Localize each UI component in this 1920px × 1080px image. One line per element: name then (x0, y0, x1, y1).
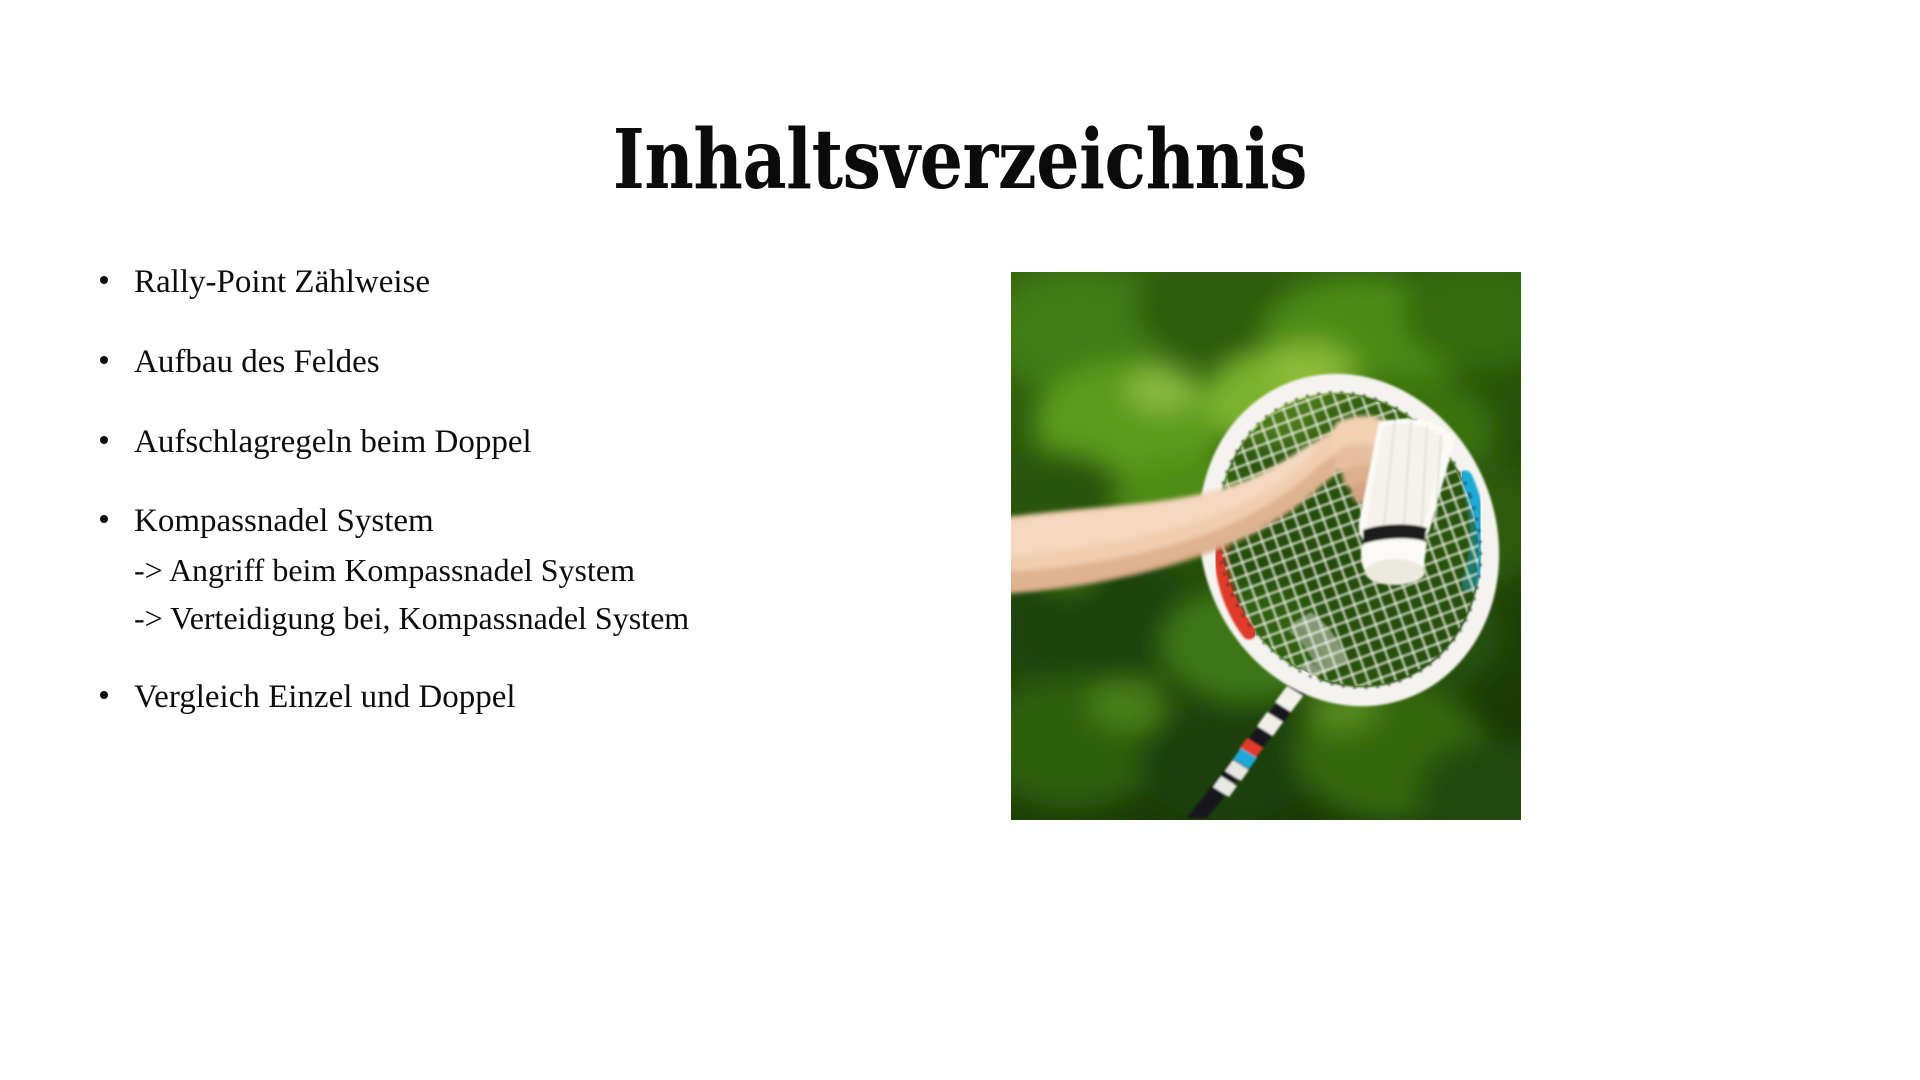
list-item-label: Aufbau des Feldes (134, 338, 916, 387)
table-of-contents-list: Rally-Point Zählweise Aufbau des Feldes … (96, 258, 916, 722)
list-item: Vergleich Einzel und Doppel (96, 673, 916, 722)
slide-canvas: Inhaltsverzeichnis Rally-Point Zählweise… (0, 0, 1920, 1080)
list-item: Rally-Point Zählweise (96, 258, 916, 307)
list-item: Kompassnadel System -> Angriff beim Komp… (96, 497, 916, 642)
list-item: Aufschlagregeln beim Doppel (96, 418, 916, 467)
badminton-photo (1011, 272, 1521, 820)
bullet-dot-icon (100, 276, 108, 284)
bullet-dot-icon (100, 436, 108, 444)
list-item: Aufbau des Feldes (96, 338, 916, 387)
bullet-dot-icon (100, 691, 108, 699)
sub-line-group: -> Angriff beim Kompassnadel System -> V… (134, 546, 916, 642)
list-item-label: Kompassnadel System (134, 497, 916, 546)
list-item-label: Vergleich Einzel und Doppel (134, 673, 916, 722)
list-item-label: Rally-Point Zählweise (134, 258, 916, 307)
bullet-dot-icon (100, 515, 108, 523)
sub-list-item: -> Angriff beim Kompassnadel System (134, 546, 916, 594)
sub-list-item: -> Verteidigung bei, Kompassnadel System (134, 594, 916, 642)
list-item-label: Aufschlagregeln beim Doppel (134, 418, 916, 467)
badminton-photo-illustration (1011, 272, 1521, 820)
page-title: Inhaltsverzeichnis (163, 117, 1757, 203)
bullet-dot-icon (100, 356, 108, 364)
